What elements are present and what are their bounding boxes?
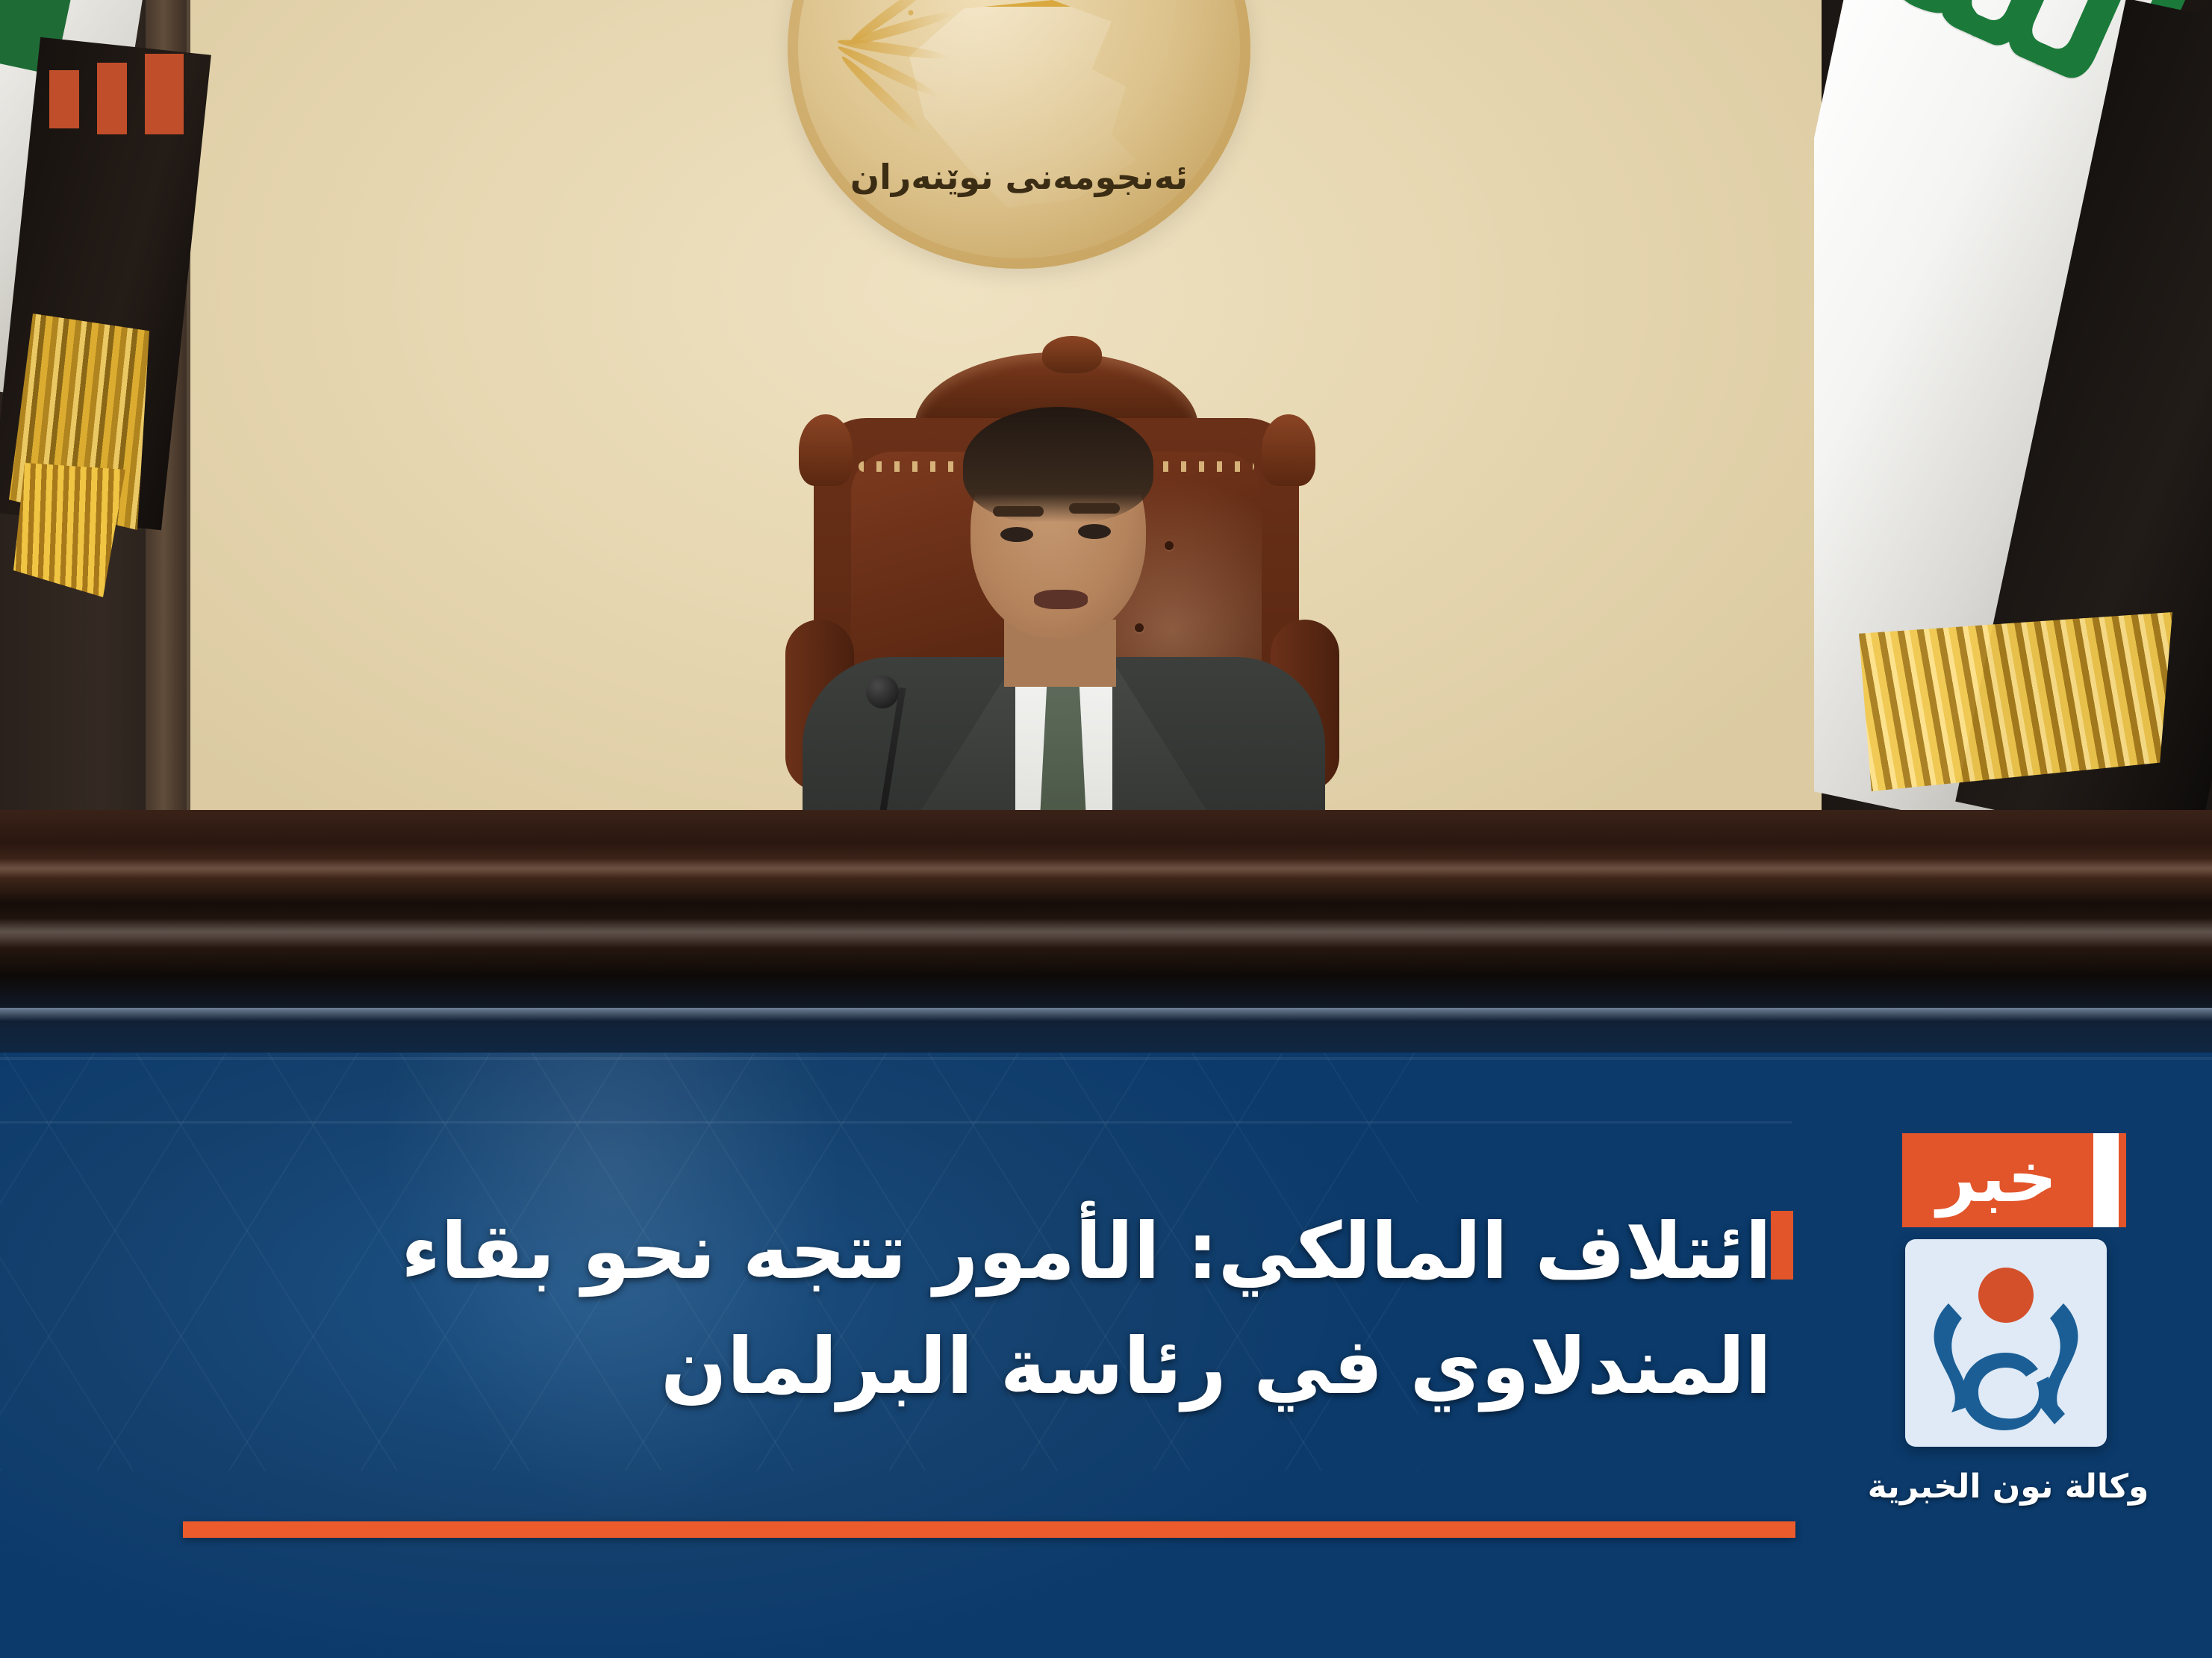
subject-brow-left [993, 506, 1044, 517]
microphone-head-icon [866, 676, 899, 708]
iraqi-flag: الله أكبر [1814, 0, 2212, 836]
corner-accent-bars [49, 54, 184, 134]
panel-seam-line [0, 1121, 1792, 1123]
headline-accent-bar [1771, 1211, 1793, 1280]
news-badge[interactable]: خبر [1902, 1133, 2126, 1227]
news-badge-white-tick [2093, 1133, 2119, 1227]
subject-eye-left [1000, 527, 1033, 542]
accent-bar-1 [145, 54, 184, 134]
podium-highlight-upper [0, 858, 2212, 878]
emblem-kurdish-text: ئه‌نجومه‌نی نوێنه‌ران [788, 157, 1250, 197]
right-flag-gold-fringe [1859, 612, 2172, 791]
noon-logo-icon [1905, 1239, 2107, 1447]
headline-line-1: ائتلاف المالكي: الأمور تتجه نحو بقاء [62, 1194, 1772, 1309]
news-badge-label: خبر [1937, 1144, 2057, 1212]
subject-eye-right [1078, 524, 1111, 539]
headline-underline-rule [183, 1521, 1795, 1538]
news-photo: ئه‌نجومه‌نی نوێنه‌ران الله أكبر [0, 0, 2212, 1082]
panel-top-line [0, 1057, 2212, 1060]
chair-finial-left [799, 414, 853, 486]
subject-hair [963, 407, 1153, 523]
accent-bar-2 [97, 63, 127, 134]
subject-brow-right [1069, 503, 1120, 514]
news-card: ئه‌نجومه‌نی نوێنه‌ران الله أكبر [0, 0, 2212, 1658]
podium-edge-light [0, 1008, 2212, 1021]
agency-name: وكالة نون الخبرية [1844, 1468, 2172, 1506]
headline-line-2: المندلاوي في رئاسة البرلمان [62, 1309, 1772, 1424]
subject-mouth [1034, 590, 1088, 609]
podium-highlight [0, 918, 2212, 948]
headline: ائتلاف المالكي: الأمور تتجه نحو بقاء الم… [62, 1194, 1772, 1424]
agency-logo[interactable] [1905, 1239, 2107, 1447]
chair-finial-right [1262, 414, 1315, 486]
accent-bar-3 [49, 70, 79, 128]
